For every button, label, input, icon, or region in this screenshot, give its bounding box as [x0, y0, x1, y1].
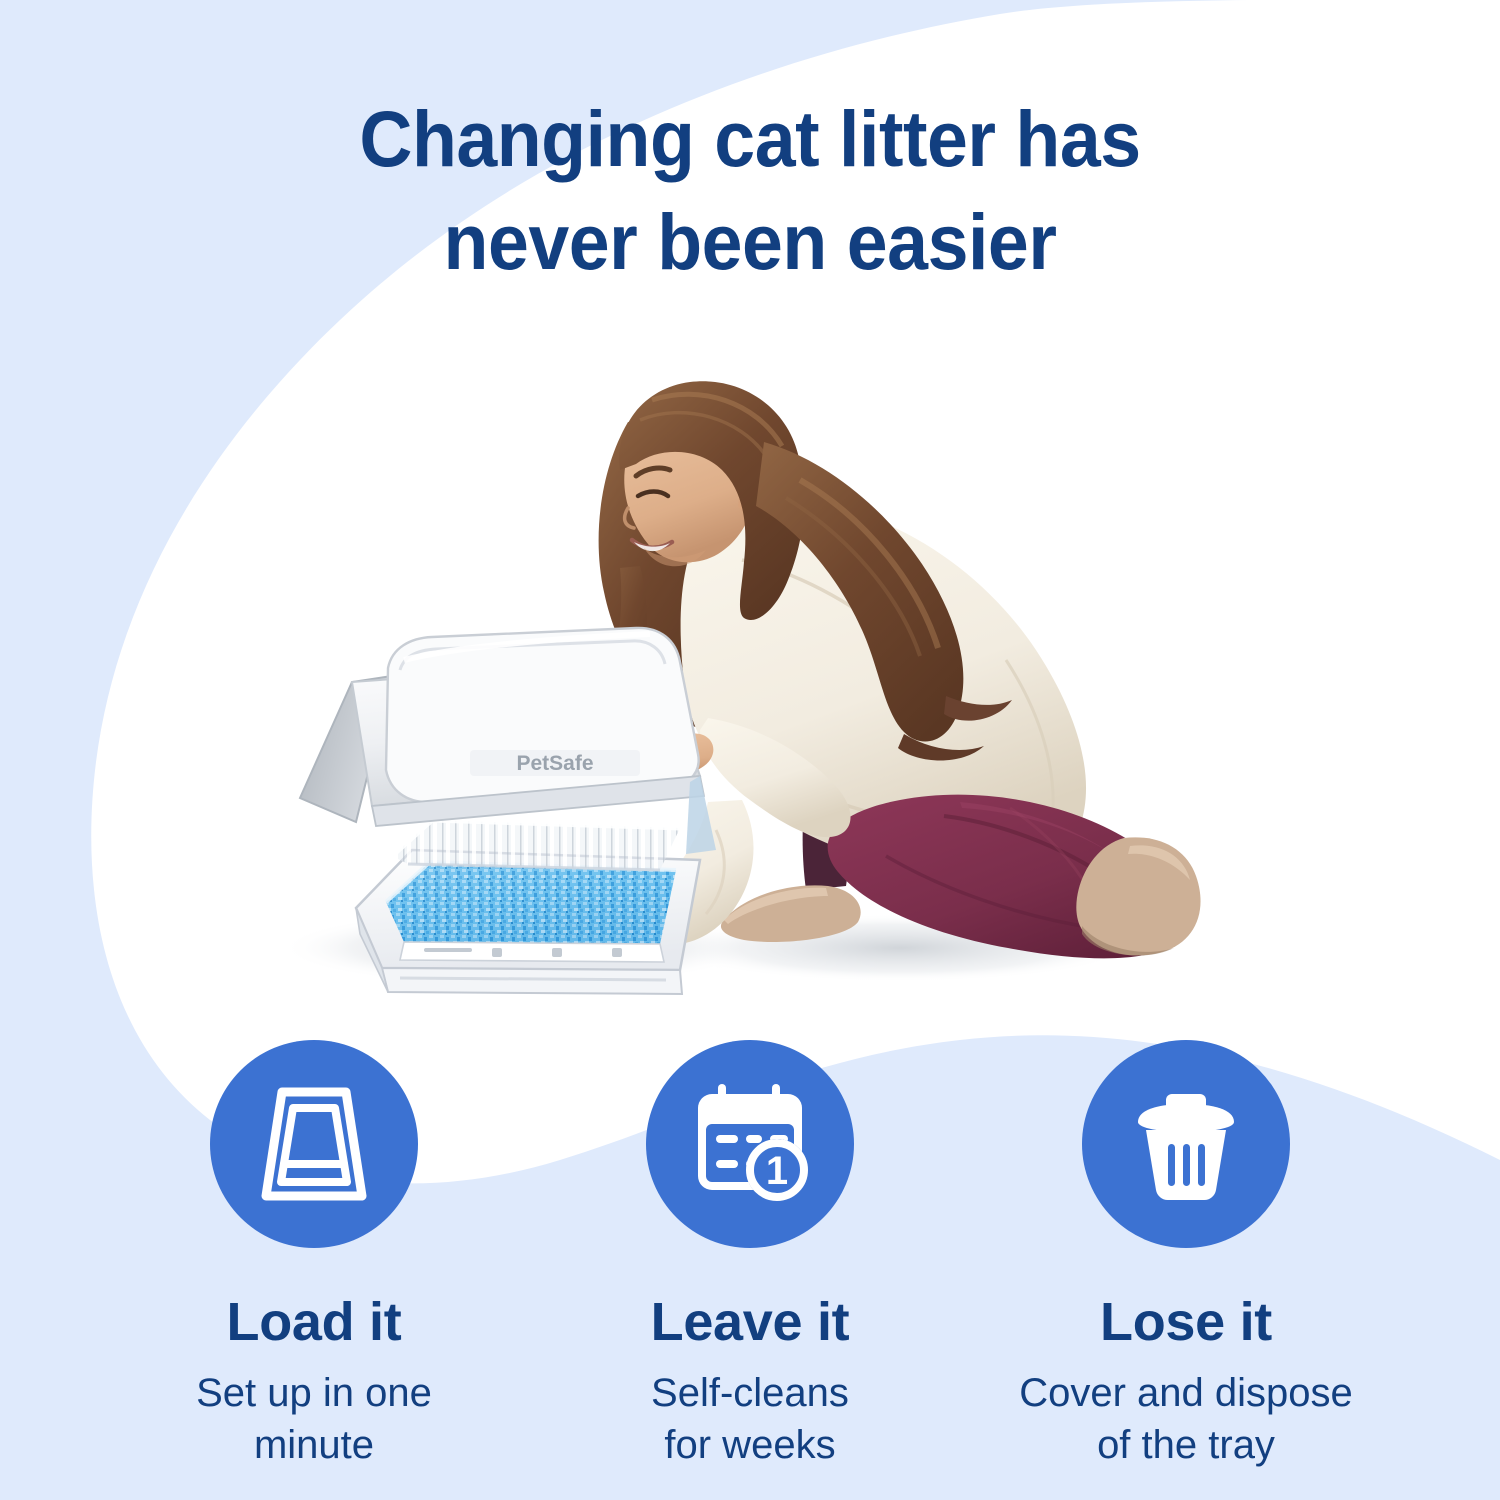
- product-brand-text: PetSafe: [516, 752, 593, 775]
- feature-description: Self-cleans for weeks: [651, 1367, 849, 1471]
- page-headline: Changing cat litter has never been easie…: [53, 88, 1448, 293]
- product-feature-card: Changing cat litter has never been easie…: [0, 0, 1500, 1500]
- feature-title: Leave it: [651, 1294, 850, 1351]
- feature-description: Set up in one minute: [196, 1367, 432, 1471]
- feature-leave-it[interactable]: 1 Leave it Self-cleans for weeks: [532, 1040, 968, 1471]
- trash-can-icon: [1082, 1040, 1290, 1248]
- feature-title: Lose it: [1100, 1294, 1272, 1351]
- calendar-one-icon: 1: [646, 1040, 854, 1248]
- feature-row: Load it Set up in one minute: [0, 1040, 1500, 1471]
- calendar-day-number: 1: [766, 1149, 788, 1193]
- litter-box-hood: PetSafe: [300, 628, 704, 826]
- hero-product-photo: Woman kneeling on the floor lifting the …: [0, 330, 1500, 1030]
- litter-tray-icon: [210, 1040, 418, 1248]
- feature-title: Load it: [227, 1294, 402, 1351]
- feature-lose-it[interactable]: Lose it Cover and dispose of the tray: [968, 1040, 1404, 1471]
- feature-load-it[interactable]: Load it Set up in one minute: [96, 1040, 532, 1471]
- feature-description: Cover and dispose of the tray: [1019, 1367, 1353, 1471]
